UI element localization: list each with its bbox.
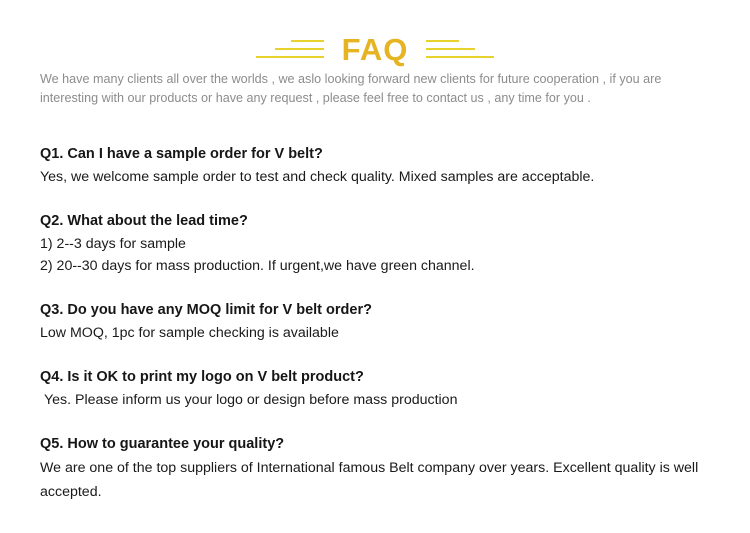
intro-paragraph: We have many clients all over the worlds…	[40, 70, 718, 108]
faq-answer: 1) 2--3 days for sample	[40, 233, 730, 255]
faq-item: Q1. Can I have a sample order for V belt…	[40, 143, 730, 188]
stepped-lines-left-icon	[252, 34, 324, 64]
deco-line-2	[275, 48, 324, 50]
faq-question: Q3. Do you have any MOQ limit for V belt…	[40, 299, 730, 321]
faq-list: Q1. Can I have a sample order for V belt…	[40, 143, 730, 504]
faq-item: Q4. Is it OK to print my logo on V belt …	[40, 366, 730, 411]
deco-line-3	[256, 56, 324, 58]
faq-question: Q2. What about the lead time?	[40, 210, 730, 232]
faq-question: Q1. Can I have a sample order for V belt…	[40, 143, 730, 165]
faq-item: Q5. How to guarantee your quality? We ar…	[40, 433, 730, 504]
faq-page: FAQ We have many clients all over the wo…	[0, 0, 750, 533]
faq-item: Q3. Do you have any MOQ limit for V belt…	[40, 299, 730, 344]
faq-question: Q4. Is it OK to print my logo on V belt …	[40, 366, 730, 388]
faq-item: Q2. What about the lead time? 1) 2--3 da…	[40, 210, 730, 277]
faq-question: Q5. How to guarantee your quality?	[40, 433, 730, 455]
stepped-lines-right-icon	[426, 34, 498, 64]
deco-line-1	[291, 40, 324, 42]
faq-answer: Yes. Please inform us your logo or desig…	[40, 389, 730, 411]
page-title: FAQ	[342, 34, 409, 65]
faq-header: FAQ	[0, 26, 750, 72]
faq-answer: Yes, we welcome sample order to test and…	[40, 166, 730, 188]
faq-answer: 2) 20--30 days for mass production. If u…	[40, 255, 730, 277]
deco-line-2	[426, 48, 475, 50]
deco-line-3	[426, 56, 494, 58]
faq-answer: Low MOQ, 1pc for sample checking is avai…	[40, 322, 730, 344]
faq-answer: We are one of the top suppliers of Inter…	[40, 456, 720, 504]
deco-line-1	[426, 40, 459, 42]
